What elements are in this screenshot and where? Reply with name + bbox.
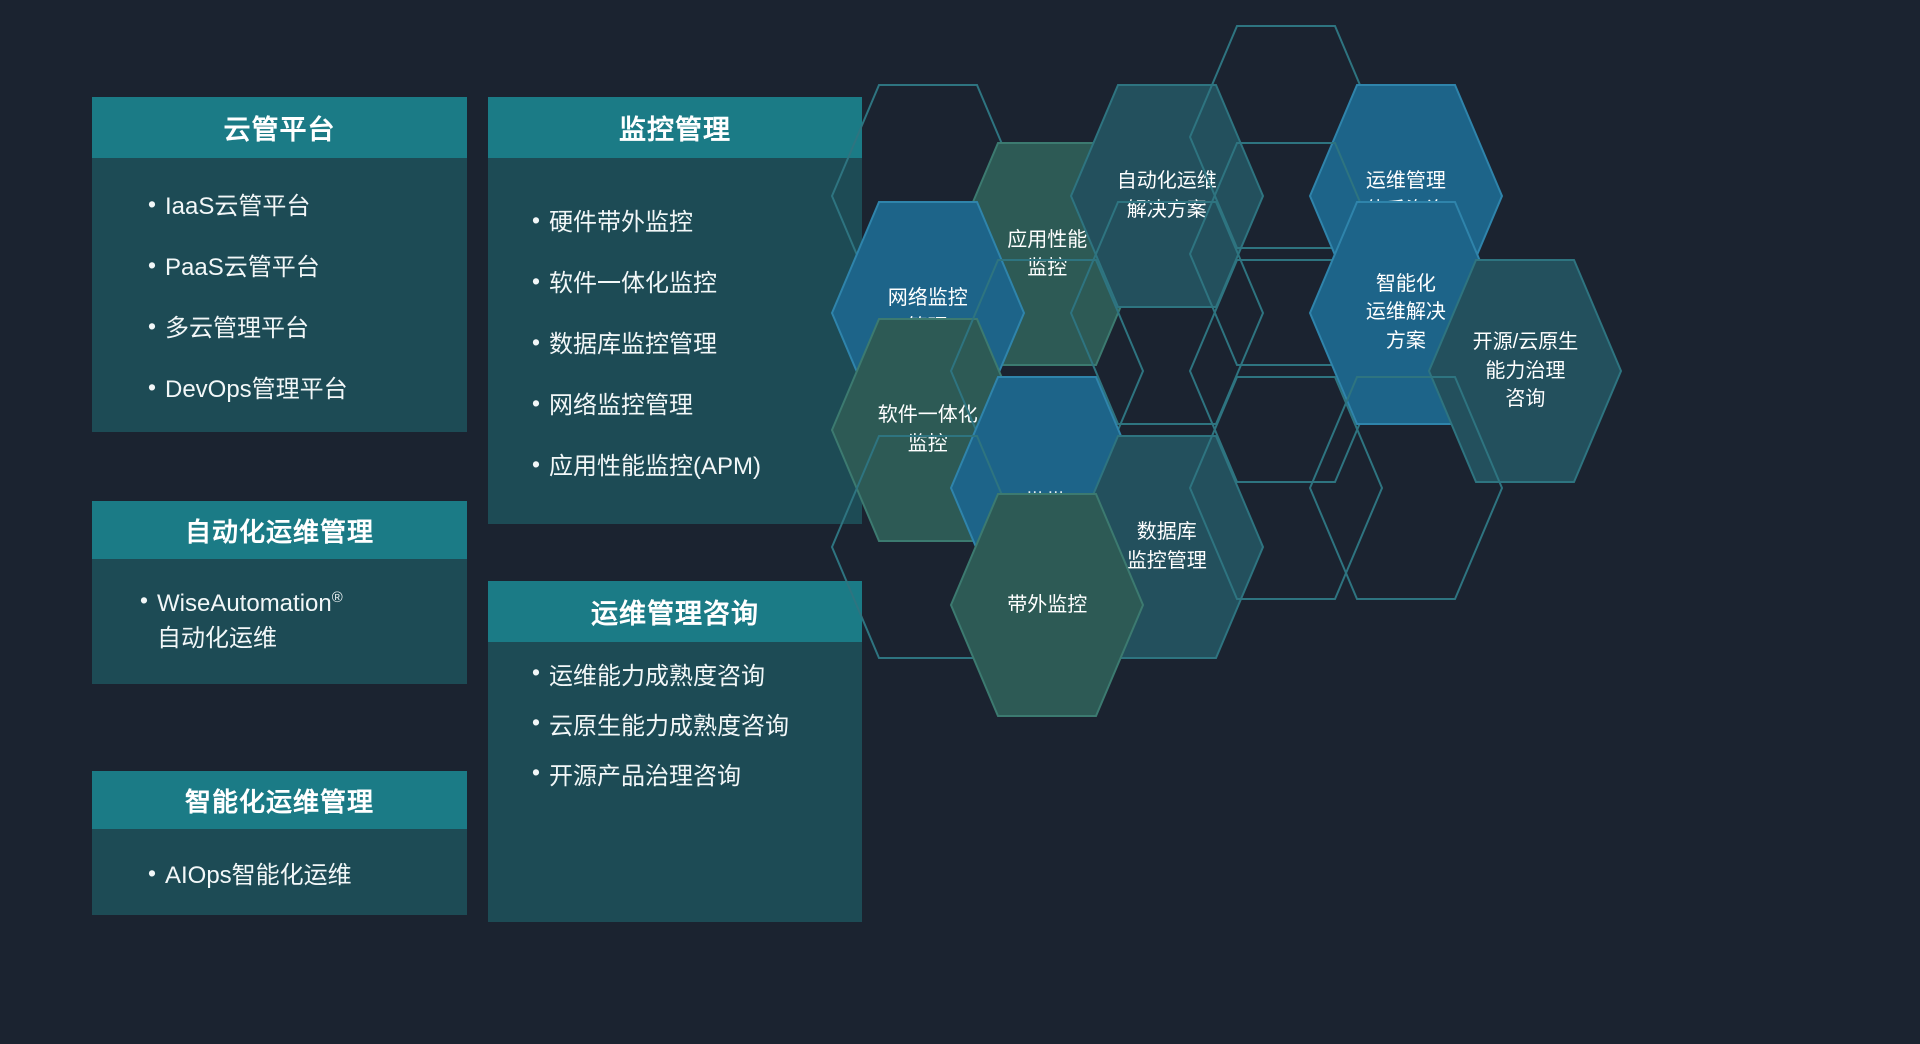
card-body-intelligent-ops-management: • AIOps智能化运维 [92, 829, 467, 915]
list-item-label: IaaS云管平台 [165, 186, 467, 221]
list-item: • PaaS云管平台 [148, 234, 467, 295]
bullet-icon: • [532, 209, 540, 232]
list-item-label: 硬件带外监控 [549, 202, 852, 237]
bullet-icon: • [532, 661, 540, 684]
card-body-cloud-platform: • IaaS云管平台 • PaaS云管平台 • 多云管理平台 • DevOps管… [92, 158, 467, 432]
card-body-ops-management-consulting: • 运维能力成熟度咨询 • 云原生能力成熟度咨询 • 开源产品治理咨询 [488, 642, 862, 922]
card-body-automation-ops-management: • WiseAutomation®自动化运维 [92, 559, 467, 684]
list-item: • 应用性能监控(APM) [532, 433, 852, 494]
registered-trademark-icon: ® [332, 590, 343, 606]
list-item-label: 云原生能力成熟度咨询 [549, 710, 848, 744]
bullet-icon: • [140, 589, 148, 612]
card-cloud-platform: 云管平台 • IaaS云管平台 • PaaS云管平台 • 多云管理平台 • De… [92, 97, 467, 432]
list-item-label: WiseAutomation®自动化运维 [157, 587, 449, 655]
list-item-subline: 自动化运维 [157, 625, 277, 652]
card-monitoring-management: 监控管理 • 硬件带外监控 • 软件一体化监控 • 数据库监控管理 • 网络监控… [488, 97, 862, 524]
list-item: • WiseAutomation®自动化运维 [140, 587, 449, 655]
list-item-label: 数据库监控管理 [549, 324, 852, 359]
list-item: • 云原生能力成熟度咨询 [532, 710, 848, 744]
card-title-ops-management-consulting: 运维管理咨询 [488, 581, 862, 642]
list-item: • 硬件带外监控 [532, 189, 852, 250]
list-item-label: 开源产品治理咨询 [549, 760, 848, 794]
bullet-icon: • [148, 193, 156, 216]
hexagon-honeycomb-diagram: 应用性能监控自动化运维解决方案运维管理体系咨询网络监控管理软件一体化监控智能化运… [880, 0, 1920, 1044]
list-item-label: 多云管理平台 [165, 308, 467, 343]
capability-card-column: 云管平台 • IaaS云管平台 • PaaS云管平台 • 多云管理平台 • De… [0, 0, 880, 1044]
bullet-icon: • [148, 862, 156, 885]
bullet-icon: • [532, 392, 540, 415]
list-item-label: 运维能力成熟度咨询 [549, 660, 848, 694]
hexagon-shape-icon [949, 492, 1145, 718]
card-title-intelligent-ops-management: 智能化运维管理 [92, 771, 467, 829]
card-body-monitoring-management: • 硬件带外监控 • 软件一体化监控 • 数据库监控管理 • 网络监控管理 • [488, 158, 862, 524]
card-automation-ops-management: 自动化运维管理 • WiseAutomation®自动化运维 [92, 501, 467, 684]
bullet-icon: • [532, 761, 540, 784]
bullet-icon: • [532, 711, 540, 734]
list-item-label: DevOps管理平台 [165, 369, 467, 404]
slide-canvas: 云管平台 • IaaS云管平台 • PaaS云管平台 • 多云管理平台 • De… [0, 0, 1920, 1044]
bullet-icon: • [148, 376, 156, 399]
card-title-automation-ops-management: 自动化运维管理 [92, 501, 467, 559]
bullet-icon: • [532, 270, 540, 293]
hex-out-of-band[interactable]: 带外监控 [949, 492, 1145, 718]
card-title-cloud-platform: 云管平台 [92, 97, 467, 158]
list-item-label: PaaS云管平台 [165, 247, 467, 282]
list-item-label: AIOps智能化运维 [165, 855, 449, 890]
bullet-icon: • [148, 254, 156, 277]
hex-empty-bottom-right [1308, 375, 1504, 601]
list-item: • 运维能力成熟度咨询 [532, 660, 848, 694]
list-item: • 开源产品治理咨询 [532, 760, 848, 794]
card-intelligent-ops-management: 智能化运维管理 • AIOps智能化运维 [92, 771, 467, 915]
list-item: • AIOps智能化运维 [148, 855, 449, 890]
bullet-icon: • [532, 453, 540, 476]
list-item-label: 软件一体化监控 [549, 263, 852, 298]
card-title-monitoring-management: 监控管理 [488, 97, 862, 158]
list-item-label: 应用性能监控(APM) [549, 446, 852, 481]
list-item-label: 网络监控管理 [549, 385, 852, 420]
bullet-icon: • [532, 331, 540, 354]
hexagon-shape-icon [1308, 375, 1504, 601]
bullet-icon: • [148, 315, 156, 338]
list-item: • 多云管理平台 [148, 295, 467, 356]
list-item: • IaaS云管平台 [148, 173, 467, 234]
card-ops-management-consulting: 运维管理咨询 • 运维能力成熟度咨询 • 云原生能力成熟度咨询 • 开源产品治理… [488, 581, 862, 922]
list-item: • 网络监控管理 [532, 372, 852, 433]
list-item: • 数据库监控管理 [532, 311, 852, 372]
list-item: • DevOps管理平台 [148, 356, 467, 417]
product-name: WiseAutomation [157, 590, 332, 617]
list-item: • 软件一体化监控 [532, 250, 852, 311]
